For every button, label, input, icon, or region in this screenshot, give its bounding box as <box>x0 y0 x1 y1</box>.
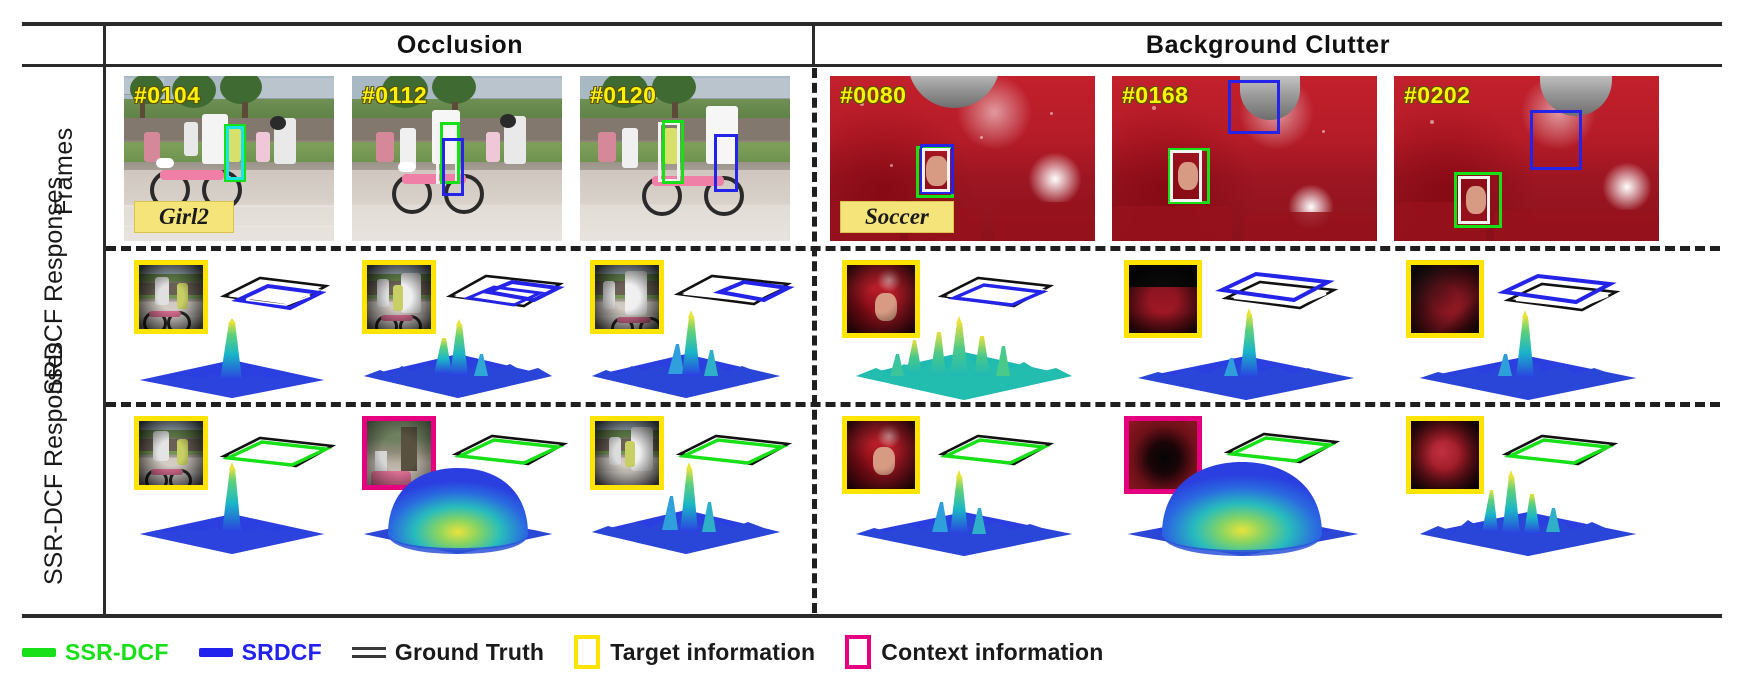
response-cell-ssrdcf <box>1112 408 1377 556</box>
row-label-ssrdcf-secondary: Responses <box>40 342 68 467</box>
legend-label-ground-truth: Ground Truth <box>395 639 544 666</box>
response-surface <box>132 462 332 556</box>
frame-cell: #0168 <box>1112 76 1377 241</box>
response-surface <box>584 458 788 556</box>
header-column-divider <box>812 26 815 66</box>
legend-item-target-information: Target information <box>574 635 815 669</box>
srdcf-line-swatch <box>199 648 233 657</box>
frame-cell: #0080 Soccer <box>830 76 1095 241</box>
bbox-srdcf <box>442 138 464 196</box>
response-cell-ssrdcf <box>830 408 1095 556</box>
legend-label-srdcf: SRDCF <box>242 639 322 666</box>
bbox-ground-truth <box>1170 150 1202 202</box>
response-surface <box>1128 304 1364 402</box>
figure-legend: SSR-DCF SRDCF Ground Truth Target inform… <box>22 630 1134 674</box>
legend-item-context-information: Context information <box>845 635 1103 669</box>
legend-label-context-information: Context information <box>881 639 1103 666</box>
row-label-divider <box>103 22 106 614</box>
frame-cell: #0104 Girl2 <box>124 76 334 241</box>
ground-truth-line-swatch <box>352 647 386 658</box>
sequence-name-tag: Soccer <box>840 201 954 233</box>
bottom-rule <box>22 614 1722 618</box>
response-surface <box>1118 454 1368 560</box>
response-surface <box>584 302 788 400</box>
response-surface <box>846 462 1082 558</box>
tracking-qualitative-figure: Occlusion Background Clutter Frames SRDC… <box>0 0 1741 687</box>
response-cell-srdcf <box>1394 252 1659 400</box>
frames-srdcf-separator <box>106 246 1720 251</box>
frame-cell: #0112 <box>352 76 562 241</box>
context-information-box-swatch <box>845 635 871 669</box>
row-label-ssrdcf-responses: SSR-DCF Responses <box>40 342 69 585</box>
response-cell-srdcf <box>1112 252 1377 400</box>
legend-item-ground-truth: Ground Truth <box>352 639 544 666</box>
response-surface <box>354 456 562 558</box>
row-label-srdcf-secondary: Responses <box>40 177 68 302</box>
bbox-srdcf <box>714 134 738 192</box>
frame-number: #0202 <box>1404 82 1470 109</box>
legend-label-target-information: Target information <box>610 639 815 666</box>
legend-item-srdcf: SRDCF <box>199 639 322 666</box>
legend-item-ssr-dcf: SSR-DCF <box>22 639 169 666</box>
response-cell-srdcf <box>352 252 562 400</box>
row-label-ssrdcf-primary: SSR-DCF <box>40 474 68 585</box>
response-cell-ssrdcf <box>1394 408 1659 556</box>
response-surface <box>1410 460 1646 558</box>
response-cell-ssrdcf <box>352 408 562 556</box>
frame-number: #0104 <box>134 82 200 109</box>
frame-number: #0120 <box>590 82 656 109</box>
response-surface <box>1410 304 1646 402</box>
frame-cell: #0120 <box>580 76 790 241</box>
bbox-srdcf <box>226 126 244 180</box>
frame-number: #0112 <box>362 82 427 109</box>
attribute-group-divider <box>812 68 817 613</box>
top-rule <box>22 22 1722 26</box>
frame-number: #0080 <box>840 82 906 109</box>
response-surface <box>356 304 560 400</box>
response-cell-ssrdcf <box>580 408 790 556</box>
response-cell-srdcf <box>580 252 790 400</box>
legend-label-ssr-dcf: SSR-DCF <box>65 639 169 666</box>
bbox-srdcf <box>1530 110 1582 170</box>
response-cell-srdcf <box>124 252 334 400</box>
sequence-name-tag: Girl2 <box>134 201 234 233</box>
header-rule <box>22 64 1722 67</box>
frame-number: #0168 <box>1122 82 1188 109</box>
target-information-box-swatch <box>574 635 600 669</box>
bbox-srdcf <box>1228 80 1280 134</box>
ssr-dcf-line-swatch <box>22 648 56 657</box>
column-header-occlusion: Occlusion <box>110 28 810 62</box>
response-surface <box>132 304 332 400</box>
bbox-ground-truth <box>922 148 950 192</box>
frame-cell: #0202 <box>1394 76 1659 241</box>
bbox-ssrdcf <box>662 120 684 184</box>
response-cell-srdcf <box>830 252 1095 400</box>
bbox-ground-truth <box>1458 176 1490 224</box>
srdcf-ssrdcf-separator <box>106 402 1720 407</box>
response-cell-ssrdcf <box>124 408 334 556</box>
column-header-background-clutter: Background Clutter <box>818 28 1718 62</box>
response-surface <box>846 306 1082 402</box>
